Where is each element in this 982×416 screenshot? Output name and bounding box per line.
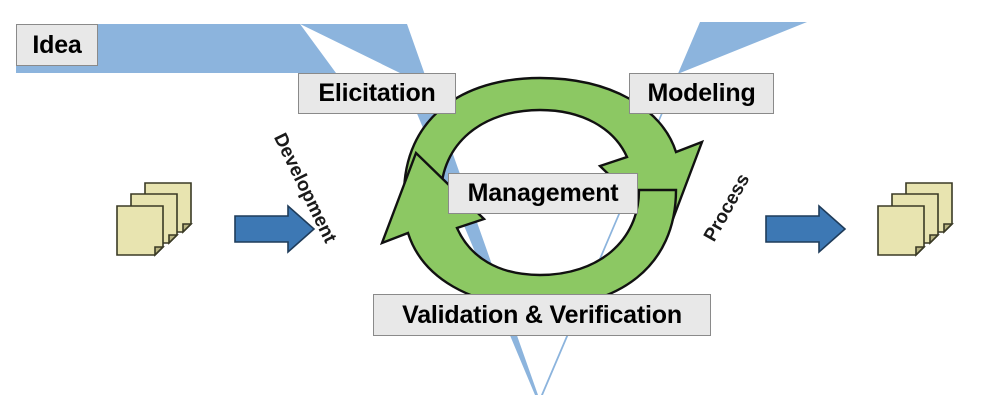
diagram-canvas: Development Process Idea Elicitation Mod… bbox=[0, 0, 982, 416]
output-document-stack bbox=[878, 183, 952, 255]
stage-label-idea: Idea bbox=[16, 24, 98, 66]
stage-label-management: Management bbox=[448, 173, 638, 214]
stage-label-validation-verification: Validation & Verification bbox=[373, 294, 711, 336]
document-fold-front bbox=[155, 247, 163, 255]
document-fold-back bbox=[183, 224, 191, 232]
document-fold-mid bbox=[169, 235, 177, 243]
document-fold-front bbox=[916, 247, 924, 255]
stage-label-modeling: Modeling bbox=[629, 73, 774, 114]
output-flow-arrow bbox=[766, 206, 845, 252]
input-document-stack bbox=[117, 183, 191, 255]
input-flow-arrow bbox=[235, 206, 314, 252]
stage-label-elicitation: Elicitation bbox=[298, 73, 456, 114]
document-fold-back bbox=[944, 224, 952, 232]
document-fold-mid bbox=[930, 235, 938, 243]
